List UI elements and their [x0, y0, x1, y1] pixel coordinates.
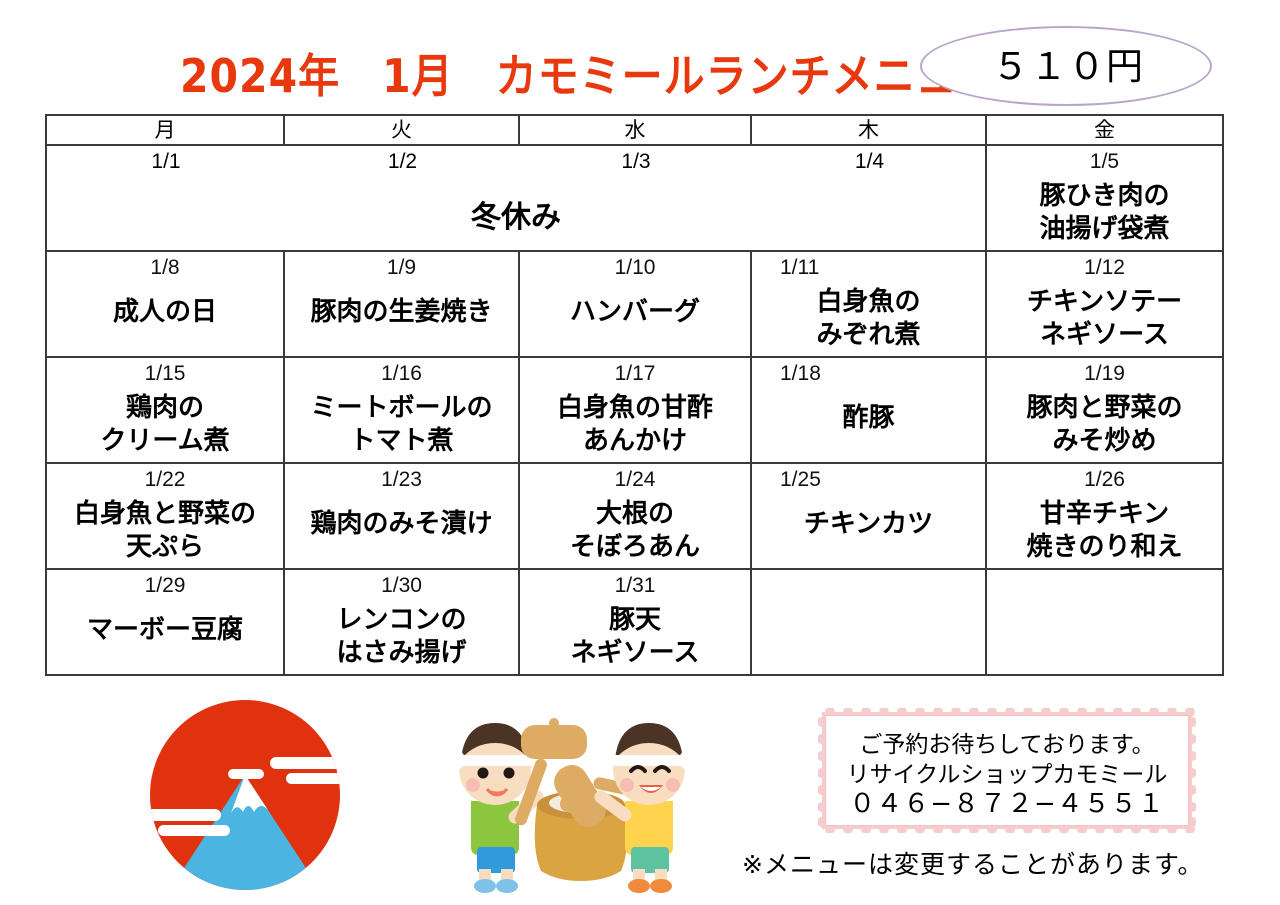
day-cell: 1/11 白身魚の みぞれ煮	[751, 251, 986, 357]
day-cell: 1/22 白身魚と野菜の 天ぷら	[46, 463, 284, 569]
left-child-shirt	[471, 801, 519, 855]
mochi-pounding-children-icon	[425, 697, 715, 897]
reservation-message: ご予約お待ちしております。	[826, 729, 1188, 759]
right-child-shoe	[650, 879, 672, 893]
day-cell-empty	[986, 569, 1223, 675]
dish-name: 豚天 ネギソース	[520, 604, 750, 670]
weekday-header-fri: 金	[986, 115, 1223, 145]
week-row-1: 1/1 1/2 1/3 1/4 冬休み 1/5 豚ひき肉の 油揚げ袋煮	[46, 145, 1223, 251]
day-cell: 1/19 豚肉と野菜の みそ炒め	[986, 357, 1223, 463]
dish-name: 鶏肉の クリーム煮	[47, 392, 283, 458]
day-cell: 1/9 豚肉の生姜焼き	[284, 251, 519, 357]
winter-break-cell: 1/1 1/2 1/3 1/4 冬休み	[46, 145, 986, 251]
dish-line: レンコンの	[285, 604, 518, 637]
date-label: 1/3	[520, 150, 752, 174]
week-row-2: 1/8 成人の日 1/9 豚肉の生姜焼き 1/10 ハンバーグ 1/11	[46, 251, 1223, 357]
dish-line: 天ぷら	[47, 531, 283, 564]
dish-line: チキンカツ	[752, 508, 985, 541]
dish-name: 豚ひき肉の 油揚げ袋煮	[987, 180, 1222, 246]
reservation-contact-stamp: ご予約お待ちしております。 リサイクルショップカモミール ０４６−８７２−４５５…	[818, 708, 1196, 833]
date-label: 1/1	[47, 150, 285, 174]
dish-name: 白身魚の甘酢 あんかけ	[520, 392, 750, 458]
day-cell: 1/17 白身魚の甘酢 あんかけ	[519, 357, 751, 463]
date-label: 1/24	[520, 468, 750, 492]
page-title: 2024年 1月 カモミールランチメニュー	[180, 38, 880, 105]
dish-line: ネギソース	[987, 319, 1222, 352]
day-cell: 1/31 豚天 ネギソース	[519, 569, 751, 675]
date-label: 1/4	[752, 150, 987, 174]
dish-name: マーボー豆腐	[47, 614, 283, 647]
right-child-shoe	[628, 879, 650, 893]
date-label: 1/22	[47, 468, 283, 492]
date-label: 1/29	[47, 574, 283, 598]
mount-fuji-sunrise-icon	[140, 697, 355, 897]
dish-line: 白身魚と野菜の	[47, 498, 283, 531]
dish-name: 白身魚と野菜の 天ぷら	[47, 498, 283, 564]
dish-name: 甘辛チキン 焼きのり和え	[987, 498, 1222, 564]
dish-line: トマト煮	[285, 425, 518, 458]
date-label: 1/5	[987, 150, 1222, 174]
day-cell: 1/25 チキンカツ	[751, 463, 986, 569]
dish-line: あんかけ	[520, 425, 750, 458]
day-cell: 1/24 大根の そぼろあん	[519, 463, 751, 569]
dish-name: 鶏肉のみそ漬け	[285, 508, 518, 541]
dish-line: みぞれ煮	[752, 319, 985, 352]
weekday-header-row: 月 火 水 木 金	[46, 115, 1223, 145]
page-header: 2024年 1月 カモミールランチメニュー ５１０円	[0, 0, 1280, 112]
dish-line: そぼろあん	[520, 531, 750, 564]
dish-line: 焼きのり和え	[987, 531, 1222, 564]
dish-line: 酢豚	[752, 402, 985, 435]
dish-line: 大根の	[520, 498, 750, 531]
dish-name: 豚肉と野菜の みそ炒め	[987, 392, 1222, 458]
dish-line: 豚肉と野菜の	[987, 392, 1222, 425]
dish-line: 成人の日	[47, 296, 283, 329]
day-cell: 1/15 鶏肉の クリーム煮	[46, 357, 284, 463]
dish-line: ミートボールの	[285, 392, 518, 425]
dish-line: 豚肉の生姜焼き	[285, 296, 518, 329]
week-row-5: 1/29 マーボー豆腐 1/30 レンコンの はさみ揚げ 1/31 豚天 ネギソ…	[46, 569, 1223, 675]
shop-name: リサイクルショップカモミール	[826, 759, 1188, 789]
week-row-4: 1/22 白身魚と野菜の 天ぷら 1/23 鶏肉のみそ漬け 1/24 大根の そ…	[46, 463, 1223, 569]
day-cell: 1/16 ミートボールの トマト煮	[284, 357, 519, 463]
weekday-header-wed: 水	[519, 115, 751, 145]
date-label: 1/10	[520, 256, 750, 280]
left-child-headband	[459, 755, 531, 766]
stamp-inner-panel: ご予約お待ちしております。 リサイクルショップカモミール ０４６−８７２−４５５…	[825, 715, 1189, 826]
lunch-menu-calendar: 月 火 水 木 金 1/1 1/2 1/3 1/4 冬休み 1/5 豚ひき肉の	[45, 114, 1224, 676]
dish-line: みそ炒め	[987, 425, 1222, 458]
day-cell: 1/12 チキンソテー ネギソース	[986, 251, 1223, 357]
dish-line: マーボー豆腐	[47, 614, 283, 647]
date-label: 1/2	[285, 150, 520, 174]
week-row-3: 1/15 鶏肉の クリーム煮 1/16 ミートボールの トマト煮 1/17 白身…	[46, 357, 1223, 463]
dish-name: ミートボールの トマト煮	[285, 392, 518, 458]
day-cell-empty	[751, 569, 986, 675]
date-label: 1/18	[752, 362, 821, 386]
right-child-shirt	[625, 801, 673, 855]
phone-number: ０４６−８７２−４５５１	[826, 789, 1188, 819]
weekday-header-thu: 木	[751, 115, 986, 145]
day-cell: 1/8 成人の日	[46, 251, 284, 357]
dish-line: 白身魚の	[752, 286, 985, 319]
menu-change-note: ※メニューは変更することがあります。	[742, 845, 1203, 881]
winter-break-dates: 1/1 1/2 1/3 1/4	[47, 150, 985, 176]
date-label: 1/12	[987, 256, 1222, 280]
date-label: 1/23	[285, 468, 518, 492]
day-cell: 1/23 鶏肉のみそ漬け	[284, 463, 519, 569]
date-label: 1/19	[987, 362, 1222, 386]
dish-name: 酢豚	[752, 402, 985, 435]
day-cell: 1/30 レンコンの はさみ揚げ	[284, 569, 519, 675]
dish-line: チキンソテー	[987, 286, 1222, 319]
dish-line: 豚ひき肉の	[987, 180, 1222, 213]
winter-break-label: 冬休み	[47, 192, 985, 236]
weekday-header-mon: 月	[46, 115, 284, 145]
price-badge: ５１０円	[920, 26, 1212, 106]
dish-name: ハンバーグ	[520, 296, 750, 329]
date-label: 1/17	[520, 362, 750, 386]
weekday-header-tue: 火	[284, 115, 519, 145]
date-label: 1/31	[520, 574, 750, 598]
day-cell: 1/5 豚ひき肉の 油揚げ袋煮	[986, 145, 1223, 251]
date-label: 1/26	[987, 468, 1222, 492]
dish-line: ハンバーグ	[520, 296, 750, 329]
dish-line: はさみ揚げ	[285, 637, 518, 670]
dish-line: クリーム煮	[47, 425, 283, 458]
dish-name: チキンカツ	[752, 508, 985, 541]
date-label: 1/30	[285, 574, 518, 598]
left-child-shoe	[496, 879, 518, 893]
date-label: 1/9	[285, 256, 518, 280]
dish-name: レンコンの はさみ揚げ	[285, 604, 518, 670]
dish-line: 白身魚の甘酢	[520, 392, 750, 425]
right-child-headband	[613, 755, 685, 766]
left-child-shoe	[474, 879, 496, 893]
contact-text-block: ご予約お待ちしております。 リサイクルショップカモミール ０４６−８７２−４５５…	[826, 729, 1188, 819]
day-cell: 1/10 ハンバーグ	[519, 251, 751, 357]
dish-line: 油揚げ袋煮	[987, 213, 1222, 246]
dish-name: 成人の日	[47, 296, 283, 329]
dish-line: 鶏肉の	[47, 392, 283, 425]
dish-line: ネギソース	[520, 637, 750, 670]
day-cell: 1/18 酢豚	[751, 357, 986, 463]
date-label: 1/11	[752, 256, 819, 280]
dish-name: チキンソテー ネギソース	[987, 286, 1222, 352]
mallet-head	[521, 725, 587, 759]
date-label: 1/16	[285, 362, 518, 386]
price-value: ５１０円	[922, 28, 1214, 108]
day-cell: 1/29 マーボー豆腐	[46, 569, 284, 675]
date-label: 1/25	[752, 468, 821, 492]
date-label: 1/8	[47, 256, 283, 280]
dish-line: 鶏肉のみそ漬け	[285, 508, 518, 541]
date-label: 1/15	[47, 362, 283, 386]
dish-name: 白身魚の みぞれ煮	[752, 286, 985, 352]
dish-line: 甘辛チキン	[987, 498, 1222, 531]
dish-name: 豚肉の生姜焼き	[285, 296, 518, 329]
dish-name: 大根の そぼろあん	[520, 498, 750, 564]
dish-line: 豚天	[520, 604, 750, 637]
day-cell: 1/26 甘辛チキン 焼きのり和え	[986, 463, 1223, 569]
